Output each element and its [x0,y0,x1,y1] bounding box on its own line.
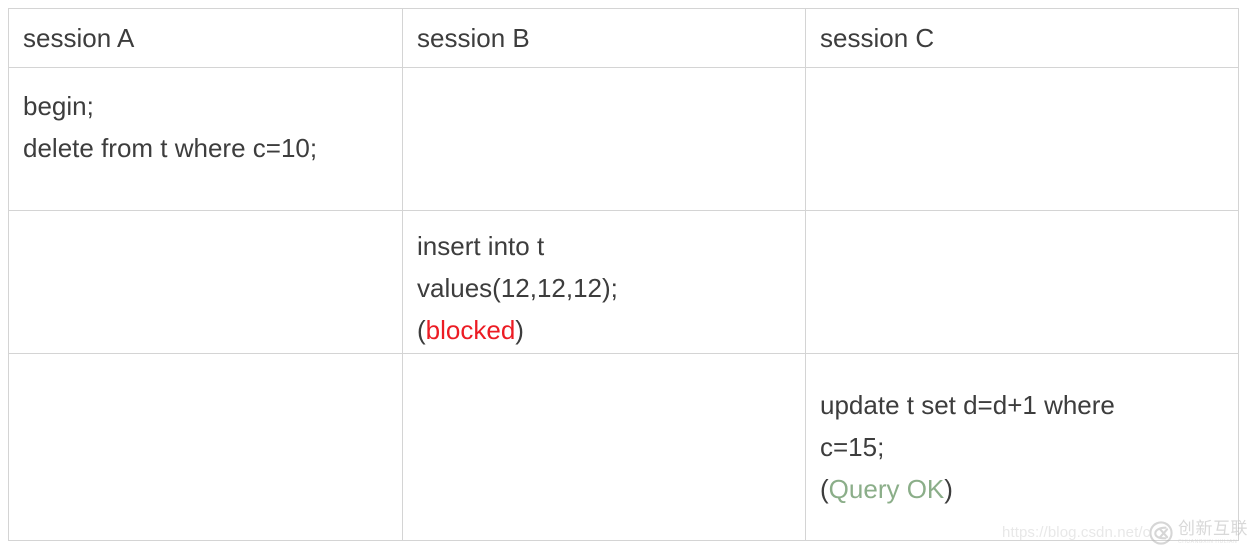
column-header-label: session B [403,23,805,53]
cell-session-a-step-2 [9,211,403,354]
column-header-session-c: session C [806,9,1239,68]
cell-content: begin; delete from t where c=10; [9,68,402,169]
table-row: update t set d=d+1 where c=15; (Query OK… [9,354,1239,541]
brand-name-pinyin: CHUANGXIN HULIAN [1178,540,1248,545]
cell-session-a-step-3 [9,354,403,541]
column-header-session-a: session A [9,9,403,68]
cell-content: update t set d=d+1 where c=15; (Query OK… [806,384,1238,510]
status-badge-query-ok: Query OK [829,474,945,504]
sql-statement-text: insert into t values(12,12,12); [417,231,618,303]
watermark-brand: 创新互联 CHUANGXIN HULIAN [1148,512,1248,554]
cell-content [806,211,1238,226]
column-header-session-b: session B [403,9,806,68]
column-header-label: session C [806,23,1238,53]
cell-session-b-step-3 [403,354,806,541]
brand-name-cn: 创新互联 [1178,521,1248,538]
table-row: insert into t values(12,12,12); (blocked… [9,211,1239,354]
cell-content: insert into t values(12,12,12); (blocked… [403,211,805,351]
brand-text-wrap: 创新互联 CHUANGXIN HULIAN [1178,521,1248,545]
cell-session-b-step-2: insert into t values(12,12,12); (blocked… [403,211,806,354]
sql-statement-text: begin; delete from t where c=10; [23,91,317,163]
cell-content [403,68,805,86]
table-header: session A session B session C [9,9,1239,68]
cell-session-b-step-1 [403,68,806,211]
status-paren-open: ( [417,315,426,345]
status-paren-close: ) [944,474,953,504]
cell-session-c-step-1 [806,68,1239,211]
cell-content [9,211,402,226]
column-header-label: session A [9,23,402,53]
sql-statement-text: update t set d=d+1 where c=15; [820,390,1115,462]
table-header-row: session A session B session C [9,9,1239,68]
cell-session-c-step-2 [806,211,1239,354]
status-paren-close: ) [515,315,524,345]
status-paren-open: ( [820,474,829,504]
cell-content [403,447,805,448]
session-comparison-table: session A session B session C begin; del… [8,8,1239,541]
cell-content [9,447,402,448]
status-badge-blocked: blocked [426,315,516,345]
page-root: session A session B session C begin; del… [0,0,1248,556]
cell-session-a-step-1: begin; delete from t where c=10; [9,68,403,211]
table-row: begin; delete from t where c=10; [9,68,1239,211]
watermark-url: https://blog.csdn.net/c [1002,524,1150,542]
brand-logo-icon [1148,520,1174,546]
table-body: begin; delete from t where c=10; insert … [9,68,1239,541]
cell-content [806,68,1238,86]
